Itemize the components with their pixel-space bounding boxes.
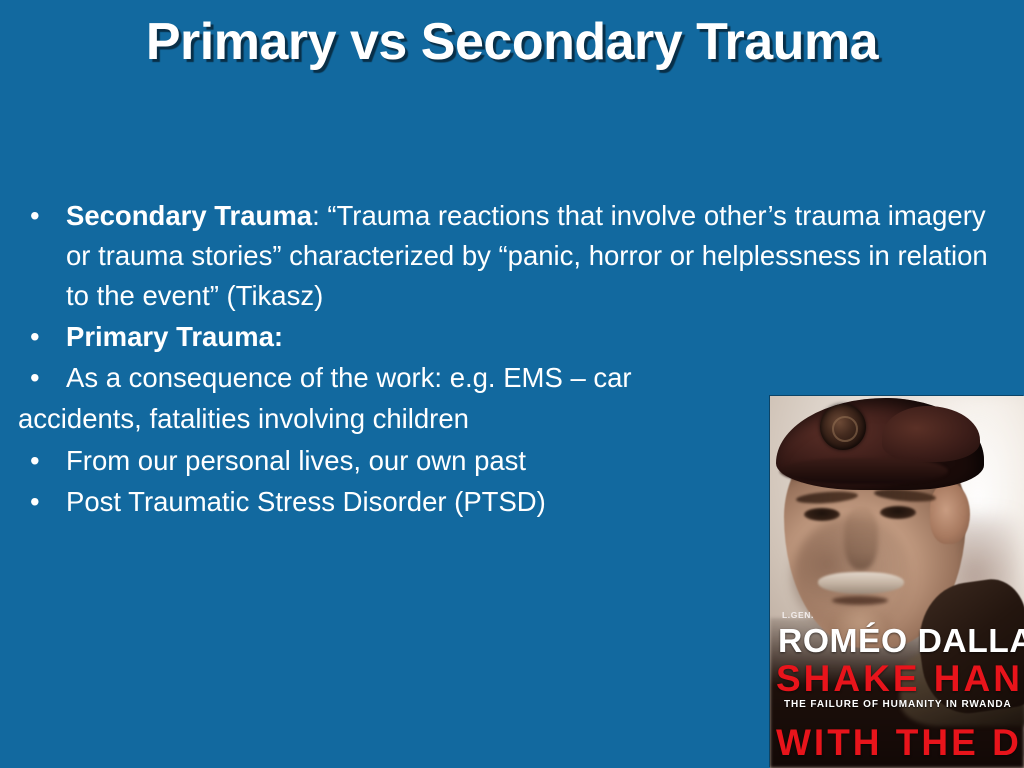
bullet-icon: • (30, 196, 50, 236)
cover-title-line-2: WITH THE DEVIL (776, 724, 1024, 762)
slide-canvas: Primary vs Secondary Trauma • Secondary … (0, 0, 1024, 768)
cover-author-rank: L.GEN. (782, 610, 814, 620)
bullet-icon: • (30, 441, 50, 481)
portrait-ear (930, 482, 970, 544)
list-item-text: As a consequence of the work: e.g. EMS –… (66, 358, 846, 398)
beret-cap-badge-icon (820, 404, 866, 450)
list-item: • Primary Trauma: (18, 317, 978, 357)
bullet-icon: • (30, 317, 50, 357)
page-title: Primary vs Secondary Trauma (0, 8, 1024, 76)
list-item-lead: Primary Trauma: (66, 321, 283, 352)
list-item: • Secondary Trauma: “Trauma reactions th… (18, 196, 978, 316)
portrait-nose (844, 508, 878, 570)
list-item-text: Primary Trauma: (66, 317, 978, 357)
cover-title-line-1: SHAKE HANDS (776, 660, 1024, 698)
portrait-moustache (818, 572, 904, 594)
portrait-eye-left (804, 508, 840, 521)
book-cover-image: L.GEN. ROMÉO DALLAIRE SHAKE HANDS THE FA… (770, 396, 1024, 768)
bullet-icon: • (30, 482, 50, 522)
portrait-mouth (832, 596, 888, 605)
portrait-eye-right (880, 506, 916, 519)
list-item-text: Secondary Trauma: “Trauma reactions that… (66, 196, 991, 316)
cover-subtitle: THE FAILURE OF HUMANITY IN RWANDA (784, 699, 1024, 710)
cover-author-name: ROMÉO DALLAIRE (778, 624, 1024, 658)
bullet-icon: • (30, 358, 50, 398)
list-item: • As a consequence of the work: e.g. EMS… (18, 358, 978, 398)
beret-rim (780, 458, 948, 484)
list-item-lead: Secondary Trauma (66, 200, 312, 231)
